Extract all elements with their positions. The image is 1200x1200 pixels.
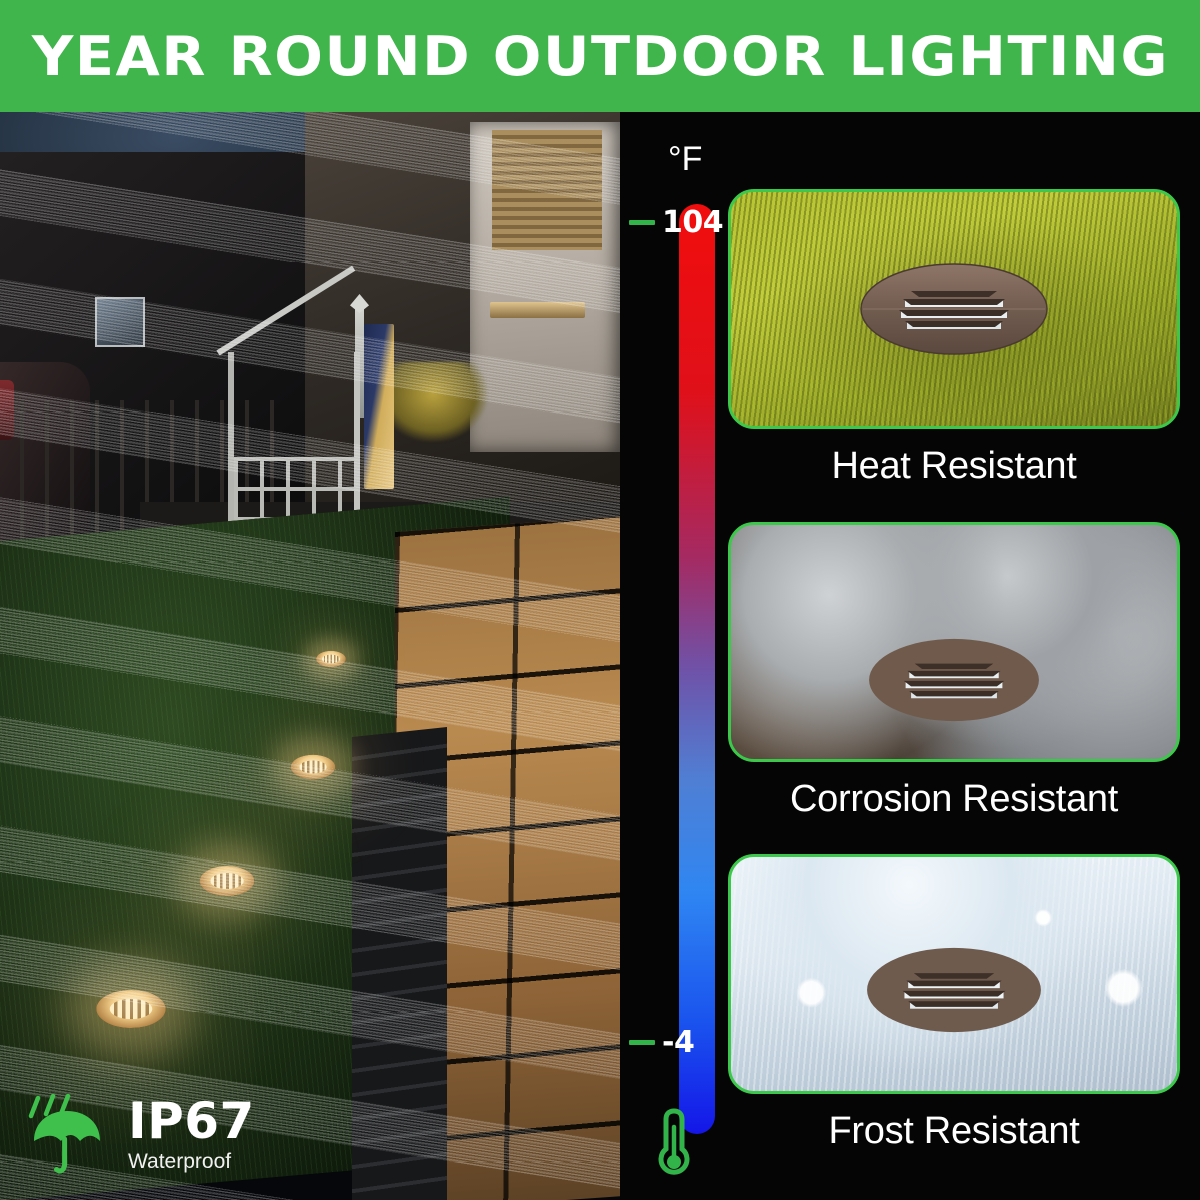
feature-card-corrosion: Corrosion Resistant (728, 522, 1180, 821)
ip-badge-text: IP67 Waterproof (128, 1096, 255, 1174)
frost-resistant-image (728, 854, 1180, 1094)
ip-subtitle: Waterproof (128, 1150, 255, 1174)
ground-light (316, 651, 346, 667)
feature-card-frost: Frost Resistant (728, 854, 1180, 1153)
gauge-tick-high-value: 104 (662, 205, 723, 240)
hero-photo (0, 112, 620, 1200)
car-taillight (0, 380, 14, 440)
temperature-gradient-bar (679, 204, 715, 1134)
tick-dash-icon (629, 1040, 655, 1045)
house-window (95, 297, 145, 347)
ground-light (291, 755, 336, 779)
house-flag (364, 324, 394, 489)
gauge-tick-low-value: -4 (662, 1025, 694, 1060)
thermometer-icon (650, 1105, 698, 1181)
feature-cards: Heat Resistant Corrosion Re (728, 112, 1200, 1200)
gauge-tick-low: -4 (629, 1025, 694, 1060)
deck-light-fixture (864, 638, 1044, 722)
feature-card-heat: Heat Resistant (728, 189, 1180, 488)
ground-light (96, 990, 165, 1028)
temperature-unit-label: °F (668, 140, 702, 179)
frost-resistant-label: Frost Resistant (728, 1110, 1180, 1153)
header-banner: YEAR ROUND OUTDOOR LIGHTING (0, 0, 1200, 112)
corrosion-resistant-image (728, 522, 1180, 762)
ground-light (200, 866, 255, 896)
deck-light-fixture (859, 263, 1049, 355)
heat-resistant-label: Heat Resistant (728, 445, 1180, 488)
ip-rating: IP67 (128, 1096, 255, 1146)
infographic-page: YEAR ROUND OUTDOOR LIGHTING (0, 0, 1200, 1200)
corrosion-resistant-label: Corrosion Resistant (728, 778, 1180, 821)
temperature-gauge: °F 104 -4 (620, 112, 728, 1200)
heat-resistant-image (728, 189, 1180, 429)
deck-light-fixture (863, 947, 1045, 1033)
lawn-edging (352, 727, 447, 1200)
hanging-plant (378, 362, 488, 442)
page-title: YEAR ROUND OUTDOOR LIGHTING (31, 25, 1168, 88)
door-vent-panel (492, 130, 602, 250)
gauge-tick-high: 104 (629, 205, 723, 240)
mail-slot (490, 302, 585, 318)
ip67-waterproof-badge: IP67 Waterproof (22, 1085, 322, 1185)
tick-dash-icon (629, 220, 655, 225)
umbrella-icon (22, 1094, 108, 1176)
